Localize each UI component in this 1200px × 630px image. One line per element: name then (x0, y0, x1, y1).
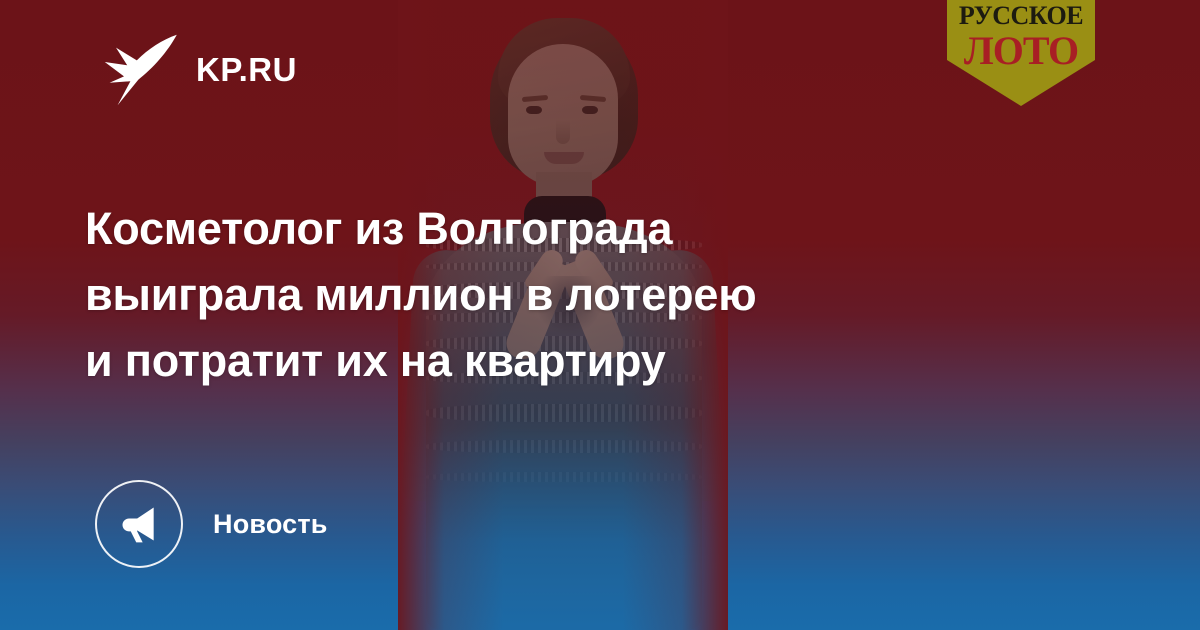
card-content: KP.RU Косметолог из Волгограда выиграла … (0, 0, 1200, 630)
sponsor-logo-line-1: РУССКОЕ (959, 1, 1083, 30)
status-badge-label: Новость (213, 509, 328, 540)
megaphone-icon (117, 502, 161, 546)
brand-lockup[interactable]: KP.RU (100, 30, 297, 110)
russkoe-loto-logo: РУССКОЕ ЛОТО (945, 0, 1097, 108)
swallow-bird-icon (100, 30, 180, 110)
headline-line-2: выиграла миллион в лотерею (85, 262, 985, 328)
page-title: Косметолог из Волгограда выиграла миллио… (85, 196, 985, 394)
sponsor-logo-line-2: ЛОТО (964, 28, 1078, 73)
brand-name: KP.RU (196, 51, 297, 89)
headline-line-1: Косметолог из Волгограда (85, 196, 985, 262)
badge-icon-circle (95, 480, 183, 568)
social-share-card: KP.RU Косметолог из Волгограда выиграла … (0, 0, 1200, 630)
headline-line-3: и потратит их на квартиру (85, 328, 985, 394)
status-badge: Новость (95, 480, 328, 568)
